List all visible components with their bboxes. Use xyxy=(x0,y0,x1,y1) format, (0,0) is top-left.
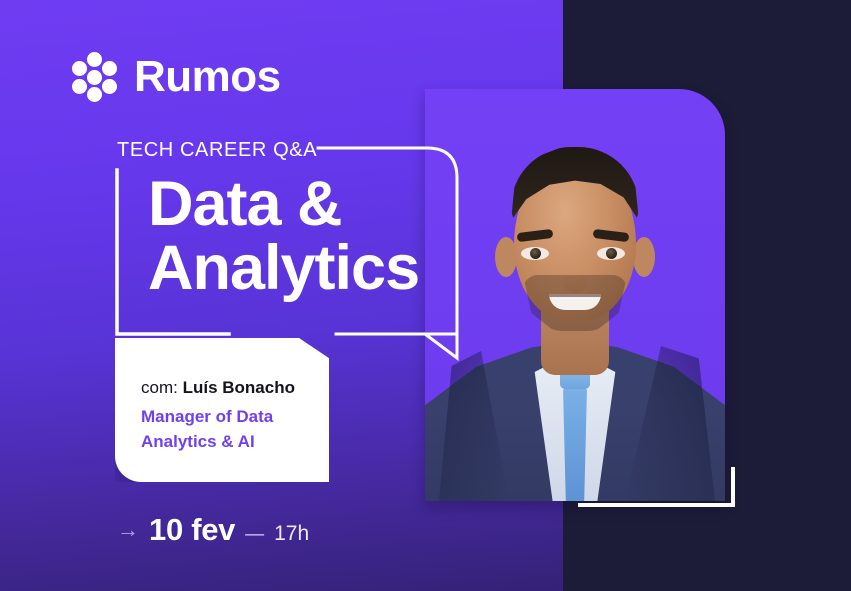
portrait-eye-left xyxy=(521,247,549,260)
page-title: Data & Analytics xyxy=(148,172,419,301)
portrait-ear-right xyxy=(633,237,655,277)
photo-corner-bracket-vertical xyxy=(731,467,735,507)
speaker-role: Manager of Data Analytics & AI xyxy=(141,405,319,454)
event-date-row: → 10 fev — 17h xyxy=(117,512,309,548)
speaker-portrait xyxy=(425,89,725,501)
speaker-name: Luís Bonacho xyxy=(183,378,295,397)
speaker-prefix: com: xyxy=(141,378,178,397)
eyebrow-label: TECH CAREER Q&A xyxy=(117,139,317,162)
portrait-nose xyxy=(563,261,587,293)
event-poster: Rumos TECH CAREER Q&A Data & Analytics c… xyxy=(0,0,851,591)
brand-logo[interactable]: Rumos xyxy=(70,52,281,102)
arrow-right-icon: → xyxy=(117,519,139,541)
brand-name: Rumos xyxy=(134,55,281,99)
speaker-name-row: com: Luís Bonacho xyxy=(141,378,319,398)
speaker-card: com: Luís Bonacho Manager of Data Analyt… xyxy=(115,338,329,482)
event-time: 17h xyxy=(274,522,309,546)
rumos-dots-icon xyxy=(70,52,120,102)
speaker-photo-panel xyxy=(425,89,725,501)
photo-corner-bracket-horizontal xyxy=(578,503,735,507)
portrait-eye-right xyxy=(597,247,625,260)
event-dash: — xyxy=(245,524,264,546)
event-date: 10 fev xyxy=(149,512,235,548)
portrait-mouth xyxy=(549,294,601,310)
